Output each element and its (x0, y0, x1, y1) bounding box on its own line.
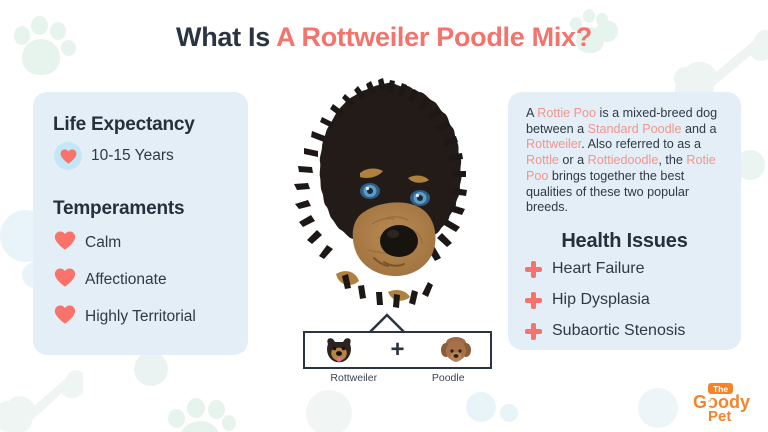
brand-logo[interactable]: The Goody Pet (690, 382, 760, 424)
temperament-item: Highly Territorial (54, 305, 196, 329)
description-text: and a (681, 122, 716, 136)
parent-breed-label-right: Poodle (432, 372, 465, 384)
breed-description: A Rottie Poo is a mixed-breed dog betwee… (526, 106, 726, 216)
bone-decoration (0, 370, 84, 432)
description-text: , the (658, 153, 686, 167)
highlighted-term: Rottie Poo (537, 106, 596, 120)
life-expectancy-panel: Life Expectancy 10-15 Years Temperaments… (33, 92, 248, 355)
infographic-canvas: What Is A Rottweiler Poodle Mix? Life Ex… (0, 0, 768, 432)
health-issue-item: Subaortic Stenosis (525, 322, 685, 340)
life-expectancy-heading: Life Expectancy (33, 114, 195, 136)
rottweiler-poodle-mix-dog-illustration (266, 78, 502, 328)
health-issue-label: Heart Failure (552, 260, 644, 278)
medical-cross-icon (525, 261, 542, 278)
health-issue-item: Hip Dysplasia (525, 291, 650, 309)
description-text: or a (559, 153, 588, 167)
highlighted-term: Rottweiler (526, 137, 581, 151)
health-info-panel: A Rottie Poo is a mixed-breed dog betwee… (508, 92, 741, 350)
temperament-label: Highly Territorial (85, 308, 196, 326)
highlighted-term: Rottle (526, 153, 559, 167)
page-title: What Is A Rottweiler Poodle Mix? (0, 22, 768, 53)
parent-breed-labels: Rottweiler Poodle (303, 372, 492, 384)
life-expectancy-row: 10-15 Years (54, 142, 174, 170)
rottweiler-head-icon (322, 335, 356, 365)
highlighted-term: Standard Poodle (588, 122, 682, 136)
medical-cross-icon (525, 292, 542, 309)
logo-line3: Pet (708, 408, 731, 424)
health-issue-item: Heart Failure (525, 260, 644, 278)
temperaments-heading: Temperaments (33, 198, 184, 220)
paw-print-decoration (168, 395, 236, 432)
temperament-label: Calm (85, 234, 121, 252)
blob-decoration (134, 352, 168, 386)
description-text: A (526, 106, 537, 120)
page-title-plain: What Is (176, 22, 276, 52)
life-expectancy-value: 10-15 Years (91, 147, 174, 165)
heart-icon (54, 305, 76, 329)
temperament-item: Calm (54, 231, 121, 255)
page-title-accent: A Rottweiler Poodle Mix? (276, 22, 592, 52)
health-issues-heading: Health Issues (508, 230, 741, 253)
temperament-label: Affectionate (85, 271, 167, 289)
poodle-head-icon (439, 335, 473, 365)
health-issue-label: Subaortic Stenosis (552, 322, 685, 340)
description-text: . Also referred to as a (581, 137, 701, 151)
highlighted-term: Rottiedoodle (588, 153, 659, 167)
blob-decoration (638, 388, 678, 428)
parent-breeds-box: + (303, 331, 492, 369)
heart-icon (54, 142, 82, 170)
blob-decoration (306, 390, 352, 432)
health-issue-label: Hip Dysplasia (552, 291, 650, 309)
medical-cross-icon (525, 323, 542, 340)
temperament-item: Affectionate (54, 268, 167, 292)
blob-decoration (500, 404, 518, 422)
plus-operator: + (390, 338, 404, 362)
heart-icon (54, 231, 76, 255)
parent-breed-label-left: Rottweiler (330, 372, 377, 384)
description-text: brings together the best qualities of th… (526, 169, 689, 214)
heart-icon (54, 268, 76, 292)
blob-decoration (466, 392, 496, 422)
